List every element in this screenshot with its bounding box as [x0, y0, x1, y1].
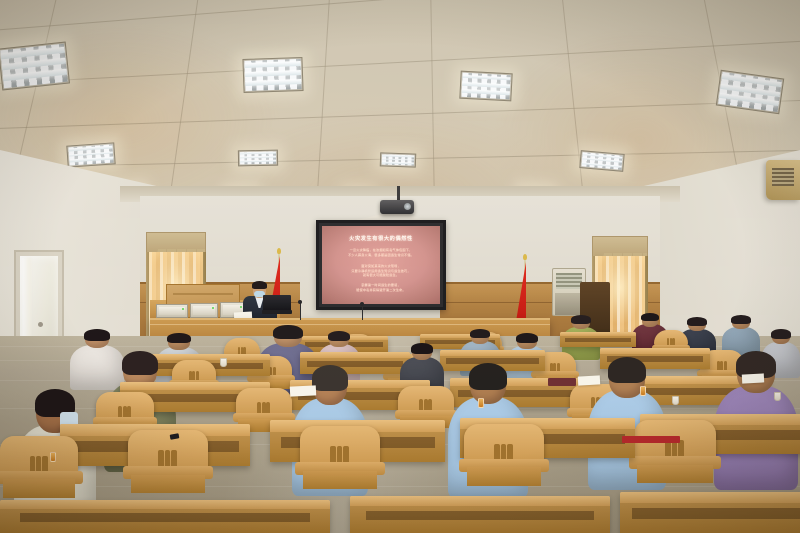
person-hair: [771, 329, 790, 339]
ceiling-light-fixture: [242, 57, 303, 93]
person-hair: [571, 315, 590, 324]
chair-seat: [637, 465, 712, 484]
paper-sheet: [578, 375, 600, 385]
desk: [0, 500, 330, 533]
red-folder: [622, 436, 680, 443]
chair-seat: [131, 475, 205, 494]
microphone-icon: [298, 300, 302, 304]
chair: [128, 430, 208, 502]
person-hair: [122, 351, 157, 375]
desk-top: [350, 496, 610, 506]
person-hair: [273, 325, 303, 339]
slide-line: 就有很大可能脱险逃生。: [328, 273, 434, 278]
speaker-grille-icon: [772, 168, 794, 186]
person-hair: [516, 333, 537, 343]
ceiling-light-fixture: [579, 150, 624, 172]
slide-line: 能使中毒并获得避开第二次生命。: [328, 288, 434, 293]
paper-sheet: [742, 373, 764, 383]
slide-paragraph-1: 一旦火灾降临，在浓烟和有毒气体包围下， 不少人葬身火海，很多都是因逃生常识不懂。: [328, 248, 434, 257]
slide-title: 火灾发生有很大的偶然性: [322, 235, 440, 242]
desk-shelf-gap: [565, 338, 632, 342]
person-hair: [641, 313, 660, 321]
ceiling-light-fixture: [380, 152, 416, 167]
slide-paragraph-3: 掌握第一时间逃生的要领， 能使中毒并获得避开第二次生命。: [328, 283, 434, 292]
door-knob-icon[interactable]: [38, 322, 43, 327]
person-hair: [312, 365, 349, 391]
presenter-hair: [252, 281, 267, 289]
curtain-valance: [592, 236, 648, 258]
projection-screen: 火灾发生有很大的偶然性 一旦火灾降临，在浓烟和有毒气体包围下， 不少人葬身火海，…: [316, 220, 446, 310]
person-hair: [411, 343, 433, 354]
desk: [350, 496, 610, 533]
projector-lens-icon: [404, 203, 411, 210]
paper-sheet: [290, 385, 316, 396]
ceiling-light-fixture: [459, 71, 512, 102]
projector-icon: [380, 200, 414, 214]
chair: [464, 424, 544, 494]
desk: [560, 332, 636, 347]
tea-cup-with-lid: [220, 358, 227, 367]
microphone-stand: [300, 302, 301, 320]
presenter-laptop-screen: [263, 295, 291, 311]
ceiling-light-fixture: [0, 42, 70, 91]
person-hair: [84, 329, 111, 341]
wall-mounted-speaker-icon: [766, 160, 800, 200]
chair: [0, 436, 78, 506]
projection-screen-surface: 火灾发生有很大的偶然性 一旦火灾降临，在浓烟和有毒气体包围下， 不少人葬身火海，…: [322, 226, 440, 304]
ceiling-light-fixture: [238, 150, 278, 167]
person-hair: [167, 333, 190, 343]
desk-top: [0, 500, 330, 509]
person-hair: [328, 331, 349, 341]
person-hair: [608, 357, 646, 383]
chair-seat: [3, 479, 75, 497]
tea-glass: [478, 398, 484, 408]
presenter-laptop-base: [262, 310, 292, 314]
notebook: [548, 378, 576, 386]
desk: [620, 492, 800, 533]
microphone-icon: [360, 302, 364, 306]
curtain-valance: [146, 232, 206, 254]
tea-cup-with-lid: [774, 392, 781, 401]
chair-seat: [467, 467, 541, 485]
slide-paragraph-2: 面对突如其来的火灾现场， 只要冷静机智运用逃生知识与逃生技巧， 就有很大可能脱险…: [328, 264, 434, 278]
person-hair: [469, 363, 508, 390]
audio-equipment: [190, 303, 218, 318]
desk-top: [620, 492, 800, 503]
person-hair: [731, 315, 750, 324]
meeting-room-photo: 火灾发生有很大的偶然性 一旦火灾降临，在浓烟和有毒气体包围下， 不少人葬身火海，…: [0, 0, 800, 533]
person-hair: [687, 317, 706, 326]
tea-cup-with-lid: [672, 396, 679, 405]
chair-seat: [303, 471, 377, 490]
microphone-stand: [362, 304, 363, 320]
person-hair: [470, 329, 490, 338]
audio-equipment: [156, 304, 188, 318]
cooler-body: [555, 293, 583, 315]
chair: [300, 426, 380, 498]
cooler-grille-icon: [556, 273, 582, 289]
desk-shelf-gap: [632, 508, 800, 519]
desk-shelf-gap: [20, 513, 310, 522]
tea-glass: [640, 386, 646, 396]
ceiling-light-fixture: [66, 142, 115, 167]
chair: [634, 420, 716, 492]
slide-line: 不少人葬身火海，很多都是因逃生常识不懂。: [328, 253, 434, 258]
tea-glass: [50, 452, 56, 462]
desk-shelf-gap: [366, 511, 595, 521]
